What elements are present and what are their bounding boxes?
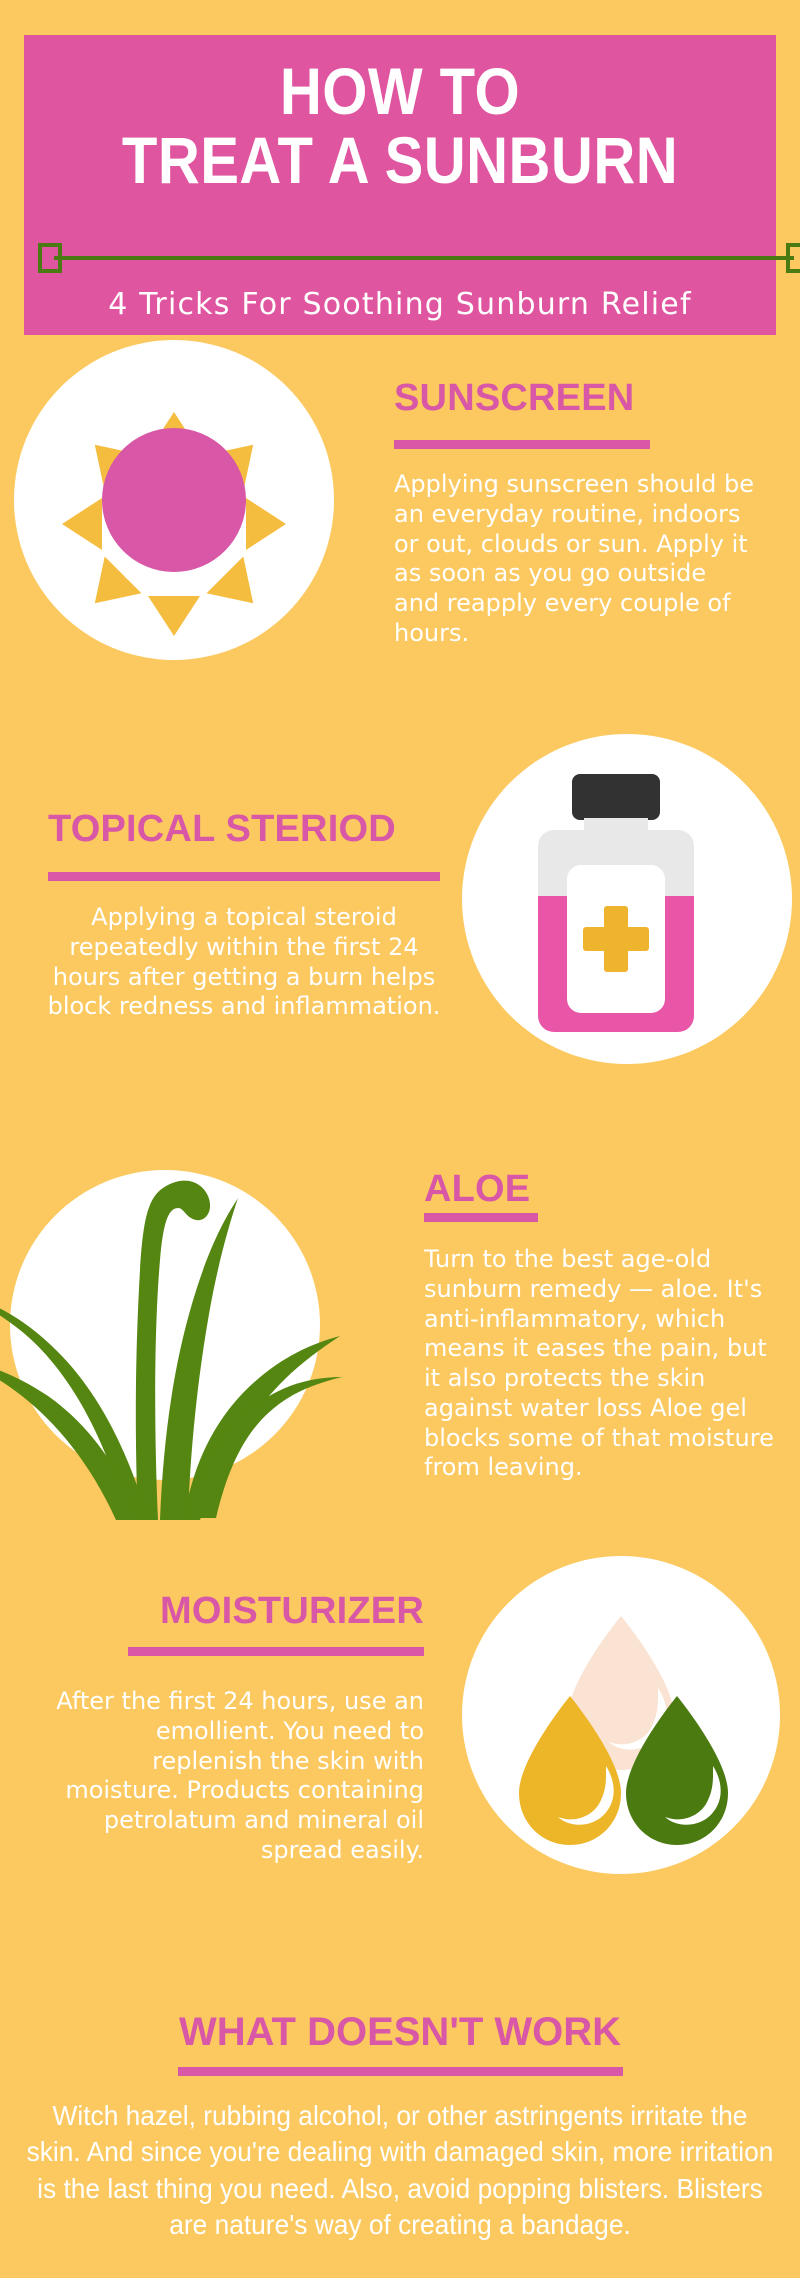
sun-core-icon bbox=[102, 428, 246, 572]
header-banner: HOW TO TREAT A SUNBURN 4 Tricks For Soot… bbox=[24, 35, 776, 335]
section-body-moisturizer: After the first 24 hours, use an emollie… bbox=[40, 1687, 424, 1866]
section-underline-moisturizer bbox=[128, 1647, 424, 1656]
medicine-bottle-icon bbox=[462, 734, 792, 1064]
section-heading-sunscreen: SUNSCREEN bbox=[394, 377, 634, 420]
water-droplets-icon bbox=[462, 1556, 780, 1874]
sun-icon bbox=[14, 340, 334, 660]
section-heading-moisturizer: MOISTURIZER bbox=[0, 1590, 424, 1633]
section-underline-sunscreen bbox=[394, 440, 650, 449]
section-body-sunscreen: Applying sunscreen should be an everyday… bbox=[394, 470, 754, 649]
final-body: Witch hazel, rubbing alcohol, or other a… bbox=[24, 2098, 776, 2244]
final-underline bbox=[178, 2067, 623, 2076]
bottle-cap-icon bbox=[572, 774, 660, 820]
infographic-page: HOW TO TREAT A SUNBURN 4 Tricks For Soot… bbox=[0, 0, 800, 2278]
topical-steroid-icon-circle bbox=[462, 734, 792, 1064]
section-heading-topical-steroid: TOPICAL STERIOD bbox=[48, 808, 396, 851]
section-heading-aloe: ALOE bbox=[424, 1168, 530, 1211]
aloe-plant-icon bbox=[0, 1120, 378, 1520]
page-subtitle: 4 Tricks For Soothing Sunburn Relief bbox=[24, 287, 776, 322]
section-underline-topical-steroid bbox=[48, 872, 440, 881]
section-body-topical-steroid: Applying a topical steroid repeatedly wi… bbox=[40, 903, 448, 1022]
sun-ray-icon bbox=[148, 596, 200, 636]
sun-ray-icon bbox=[246, 498, 286, 550]
divider-square-right-icon bbox=[786, 243, 800, 273]
sun-ray-icon bbox=[62, 498, 102, 550]
divider-square-left-icon bbox=[38, 243, 62, 273]
page-title: HOW TO TREAT A SUNBURN bbox=[69, 57, 731, 196]
divider-line bbox=[54, 256, 794, 260]
sun-ray-icon bbox=[76, 557, 141, 622]
sun-ray-icon bbox=[207, 557, 272, 622]
final-heading: WHAT DOESN'T WORK bbox=[0, 2010, 800, 2055]
section-body-aloe: Turn to the best age-old sunburn remedy … bbox=[424, 1245, 790, 1483]
sunscreen-icon-circle bbox=[14, 340, 334, 660]
decorative-divider bbox=[32, 241, 800, 275]
bottle-cross-icon bbox=[583, 927, 649, 951]
section-underline-aloe bbox=[424, 1213, 538, 1222]
